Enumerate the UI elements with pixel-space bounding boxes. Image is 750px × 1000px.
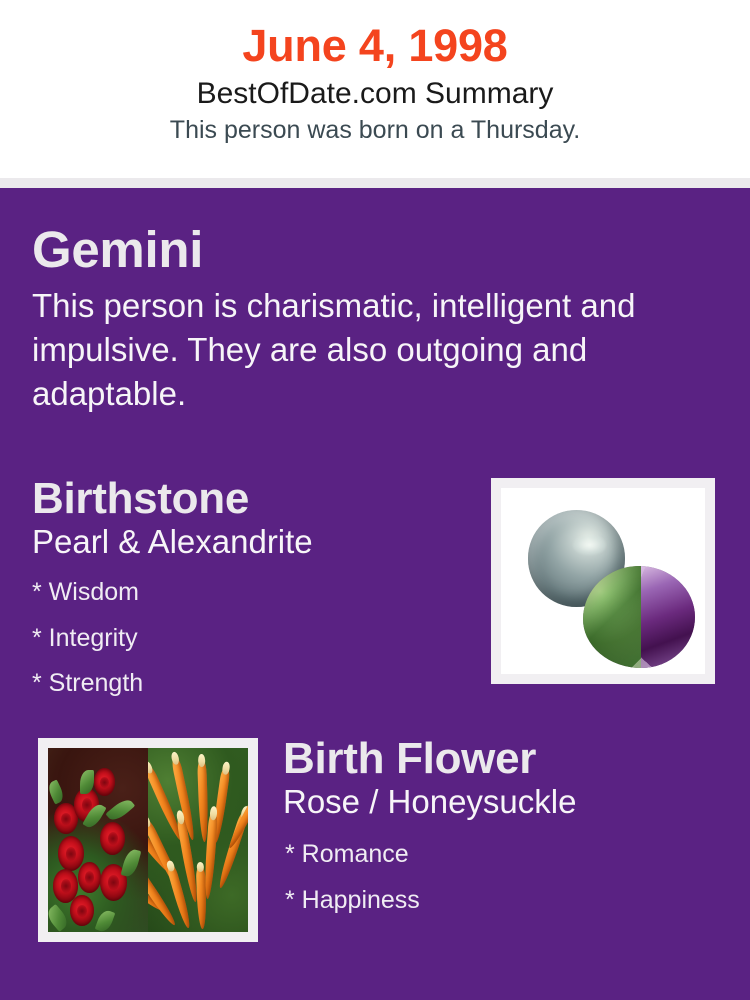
zodiac-description: This person is charismatic, intelligent … bbox=[32, 284, 697, 416]
honeysuckle-photo-half bbox=[148, 748, 248, 932]
summary-card: June 4, 1998 BestOfDate.com Summary This… bbox=[0, 0, 750, 1000]
birth-flower-section: Birth Flower Rose / Honeysuckle * Romanc… bbox=[283, 736, 723, 923]
list-item: * Wisdom bbox=[32, 570, 472, 616]
alexandrite-faceted-half bbox=[641, 566, 695, 668]
alexandrite-image bbox=[583, 566, 695, 668]
birthstone-title: Birthstone bbox=[32, 476, 472, 522]
birth-flower-photo bbox=[48, 748, 248, 932]
list-item: * Romance bbox=[285, 832, 723, 878]
card-header: June 4, 1998 BestOfDate.com Summary This… bbox=[0, 0, 750, 178]
header-divider bbox=[0, 178, 750, 188]
weekday-note: This person was born on a Thursday. bbox=[0, 117, 750, 145]
alexandrite-rough-half bbox=[583, 566, 641, 668]
page-title-date: June 4, 1998 bbox=[0, 21, 750, 71]
site-name-subtitle: BestOfDate.com Summary bbox=[0, 77, 750, 110]
list-item: * Happiness bbox=[285, 878, 723, 924]
zodiac-section: Gemini This person is charismatic, intel… bbox=[32, 222, 702, 416]
birthstone-photo bbox=[501, 488, 705, 674]
birth-flower-photo-frame bbox=[38, 738, 258, 942]
birthstone-value: Pearl & Alexandrite bbox=[32, 524, 472, 561]
birthstone-trait-list: * Wisdom * Integrity * Strength bbox=[32, 570, 472, 707]
rose-photo-half bbox=[48, 748, 148, 932]
birth-flower-value: Rose / Honeysuckle bbox=[283, 784, 723, 821]
birth-flower-trait-list: * Romance * Happiness bbox=[285, 832, 723, 923]
birth-flower-title: Birth Flower bbox=[283, 736, 723, 782]
list-item: * Strength bbox=[32, 661, 472, 707]
birthstone-section: Birthstone Pearl & Alexandrite * Wisdom … bbox=[32, 476, 472, 707]
list-item: * Integrity bbox=[32, 616, 472, 662]
zodiac-sign-name: Gemini bbox=[32, 222, 702, 277]
content-panel: Gemini This person is charismatic, intel… bbox=[0, 188, 750, 1000]
birthstone-photo-frame bbox=[491, 478, 715, 684]
